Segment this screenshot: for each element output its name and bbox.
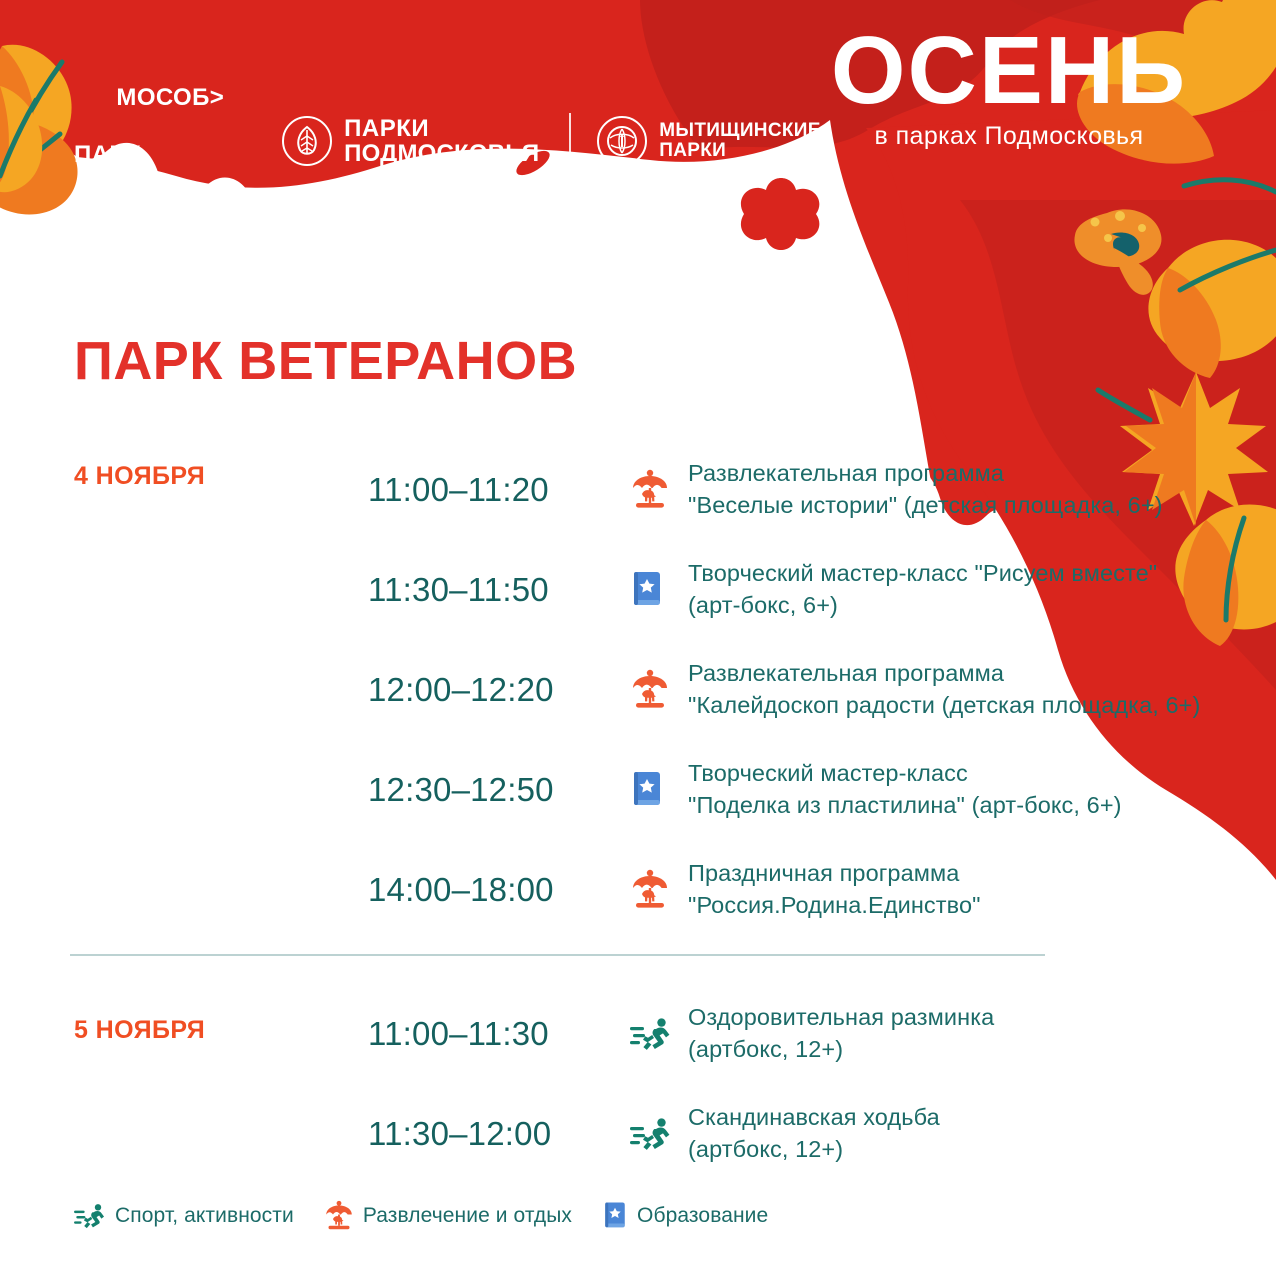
event-description: Развлекательная программа "Веселые истор… (688, 458, 1163, 522)
mytishchi-emblem-icon (597, 116, 647, 166)
logo-divider (569, 113, 571, 169)
legend-item-sport: Спорт, активности (74, 1203, 294, 1229)
maple-leaf-c-stem (1098, 390, 1150, 420)
carousel-icon (630, 669, 688, 711)
event-desc-line: Праздничная программа (688, 858, 981, 890)
event-list: 11:00–11:20 (0, 440, 1276, 940)
leaf-topleft-1 (0, 45, 72, 170)
leaf-topleft-stem-1 (16, 62, 62, 140)
book-icon (602, 1201, 628, 1231)
event-desc-line: Скандинавская ходьба (688, 1102, 940, 1134)
event-row[interactable]: 12:00–12:20 (0, 640, 1276, 740)
leaf-topleft-stem-2 (0, 134, 60, 184)
day-block: 5 НОЯБРЯ 11:00–11:30 (0, 984, 1276, 1184)
event-description: Творческий мастер-класс "Поделка из плас… (688, 758, 1122, 822)
event-row[interactable]: 12:30–12:50 Творческий мастер-класс "Под… (0, 740, 1276, 840)
logo-parki-text: ПАРКИ ПОДМОСКОВЬЯ (344, 116, 539, 167)
event-description: Творческий мастер-класс "Рисуем вместе" … (688, 558, 1157, 622)
logo-mosobl-line2: ПАРК (74, 141, 224, 169)
legend: Спорт, активности Развлечение и отдых (74, 1200, 768, 1232)
book-icon (630, 770, 688, 810)
event-time: 11:00–11:30 (368, 1015, 630, 1053)
wordmark-subtitle: в парках Подмосковья (794, 122, 1224, 151)
page-title: ПАРК ВЕТЕРАНОВ (74, 330, 577, 392)
event-time: 14:00–18:00 (368, 871, 630, 909)
logo-mosobl-park: МОСОБ> ПАРК (74, 56, 224, 226)
event-desc-line: "Веселые истории" (детская площадка, 6+) (688, 490, 1163, 522)
event-row[interactable]: 11:30–12:00 Скандинавска (0, 1084, 1276, 1184)
logo-mosobl-line1: МОСОБ> (116, 84, 224, 111)
leaf-topleft-1b (0, 46, 34, 170)
runner-icon (630, 1117, 688, 1151)
carousel-icon (630, 469, 688, 511)
leaf-a-stem (1184, 180, 1276, 192)
event-desc-line: Творческий мастер-класс "Рисуем вместе" (688, 558, 1157, 590)
event-desc-line: "Россия.Родина.Единство" (688, 890, 981, 922)
leaf-b-dark (1159, 268, 1221, 378)
event-time: 11:30–11:50 (368, 571, 630, 609)
event-desc-line: Оздоровительная разминка (688, 1002, 994, 1034)
event-description: Развлекательная программа "Калейдоскоп р… (688, 658, 1200, 722)
logo-parki-podmoskovya: ПАРКИ ПОДМОСКОВЬЯ (282, 116, 539, 167)
event-row[interactable]: 14:00–18:00 (0, 840, 1276, 940)
carousel-icon (630, 869, 688, 911)
logo-mytishchinskie-parki: МЫТИЩИНСКИЕ ПАРКИ (597, 116, 820, 166)
event-time: 11:00–11:20 (368, 471, 630, 509)
leaf-emblem-icon (282, 116, 332, 166)
event-desc-line: Творческий мастер-класс (688, 758, 1122, 790)
book-icon (630, 570, 688, 610)
leaf-left-edge (0, 86, 42, 192)
legend-label: Развлечение и отдых (363, 1204, 572, 1228)
carousel-icon (324, 1200, 354, 1232)
event-time: 12:30–12:50 (368, 771, 630, 809)
legend-label: Спорт, активности (115, 1204, 294, 1228)
poster: МОСОБ> ПАРК ПАРКИ ПОДМОСКОВЬЯ (0, 0, 1276, 1280)
day-block: 4 НОЯБРЯ 11:00–11:20 (0, 440, 1276, 940)
event-description: Праздничная программа "Россия.Родина.Еди… (688, 858, 981, 922)
day-label: 4 НОЯБРЯ (74, 462, 205, 491)
event-list: 11:00–11:30 Оздоровитель (0, 984, 1276, 1184)
event-description: Скандинавская ходьба (артбокс, 12+) (688, 1102, 940, 1166)
runner-icon (74, 1203, 106, 1229)
event-desc-line: Развлекательная программа (688, 458, 1163, 490)
wordmark-title: ОСЕНЬ (794, 24, 1224, 118)
legend-item-entertainment: Развлечение и отдых (324, 1200, 572, 1232)
event-desc-line: "Поделка из пластилина" (арт-бокс, 6+) (688, 790, 1122, 822)
day-label: 5 НОЯБРЯ (74, 1016, 205, 1045)
day-divider (70, 954, 1045, 956)
leaf-topleft-group (0, 45, 78, 215)
event-desc-line: (артбокс, 12+) (688, 1134, 940, 1166)
event-desc-line: "Калейдоскоп радости (детская площадка, … (688, 690, 1200, 722)
red-shade-3 (960, 158, 1276, 317)
autumn-wordmark: ОСЕНЬ в парках Подмосковья (794, 24, 1224, 151)
event-desc-line: (артбокс, 12+) (688, 1034, 994, 1066)
mushroom-icon (1074, 209, 1161, 294)
leaf-topleft-2 (0, 120, 78, 214)
logo-parki-line1: ПАРКИ (344, 116, 539, 141)
runner-icon (630, 1017, 688, 1051)
leaf-b-stem (1180, 250, 1276, 290)
event-desc-line: (арт-бокс, 6+) (688, 590, 1157, 622)
logo-parki-line2: ПОДМОСКОВЬЯ (344, 141, 539, 166)
event-desc-line: Развлекательная программа (688, 658, 1200, 690)
header-logo-group: МОСОБ> ПАРК ПАРКИ ПОДМОСКОВЬЯ (74, 56, 821, 226)
schedule: 4 НОЯБРЯ 11:00–11:20 (0, 440, 1276, 1184)
legend-item-education: Образование (602, 1201, 768, 1231)
event-description: Оздоровительная разминка (артбокс, 12+) (688, 1002, 994, 1066)
event-time: 12:00–12:20 (368, 671, 630, 709)
event-time: 11:30–12:00 (368, 1115, 630, 1153)
event-row[interactable]: 11:30–11:50 Творческий мастер-класс "Рис… (0, 540, 1276, 640)
leaf-b (1148, 240, 1276, 361)
legend-label: Образование (637, 1204, 768, 1228)
